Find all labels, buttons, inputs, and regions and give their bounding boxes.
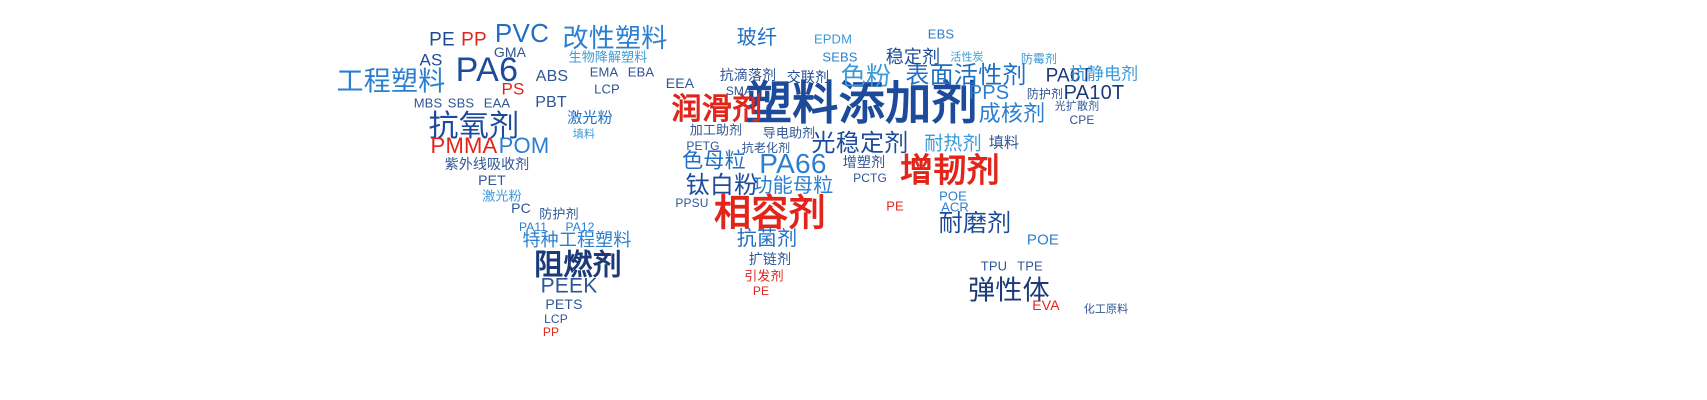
cloud-word[interactable]: PVC	[495, 20, 549, 46]
cloud-word[interactable]: PA12	[566, 221, 595, 233]
cloud-word[interactable]: 抗滴落剂	[720, 68, 777, 82]
cloud-word[interactable]: PPS	[969, 83, 1010, 103]
cloud-word[interactable]: 增塑剂	[843, 155, 885, 169]
cloud-word[interactable]: AS	[419, 52, 442, 69]
cloud-word[interactable]: TPE	[1017, 260, 1043, 273]
cloud-word[interactable]: 色粉	[841, 65, 892, 90]
cloud-word[interactable]: 活性炭	[950, 53, 983, 64]
cloud-word[interactable]: 增韧剂	[900, 154, 1000, 187]
cloud-word[interactable]: GMA	[494, 45, 526, 59]
cloud-word[interactable]: SMA	[726, 85, 752, 97]
cloud-word[interactable]: 交联剂	[787, 70, 829, 84]
cloud-word[interactable]: EMA	[590, 66, 619, 79]
cloud-word[interactable]: 防护剂	[1027, 88, 1063, 100]
cloud-word[interactable]: SEBS	[822, 51, 857, 64]
cloud-word[interactable]: PEEK	[541, 276, 598, 297]
cloud-word[interactable]: PMMA	[431, 135, 498, 157]
cloud-word[interactable]: PPSU	[675, 197, 708, 209]
cloud-word[interactable]: 生物降解塑料	[569, 51, 648, 64]
cloud-word[interactable]: MBS	[414, 97, 443, 110]
cloud-word[interactable]: PE	[886, 200, 904, 213]
cloud-word[interactable]: EPDM	[814, 33, 852, 46]
cloud-word[interactable]: 抗静电剂	[1070, 66, 1139, 83]
cloud-word[interactable]: 引发剂	[744, 270, 783, 283]
cloud-word[interactable]: 填料	[573, 130, 595, 141]
cloud-word[interactable]: 玻纤	[737, 28, 777, 48]
cloud-word[interactable]: 扩链剂	[749, 252, 791, 266]
cloud-word[interactable]: EAA	[484, 97, 510, 110]
cloud-word[interactable]: PETG	[686, 140, 719, 152]
cloud-word[interactable]: PA11	[519, 221, 547, 233]
cloud-word[interactable]: TPU	[981, 260, 1007, 273]
cloud-word[interactable]: 导电助剂	[763, 127, 816, 140]
cloud-word[interactable]: 紫外线吸收剂	[445, 157, 530, 171]
cloud-word[interactable]: PP	[543, 326, 559, 338]
cloud-word[interactable]: PBT	[535, 95, 567, 111]
cloud-word[interactable]: 耐磨剂	[939, 212, 1012, 236]
cloud-word[interactable]: PC	[511, 201, 531, 215]
cloud-word[interactable]: PCTG	[853, 172, 887, 184]
cloud-word[interactable]: LCP	[544, 313, 568, 325]
cloud-word[interactable]: 光扩散剂	[1055, 102, 1099, 113]
cloud-word[interactable]: 稳定剂	[886, 48, 941, 66]
cloud-word[interactable]: 成核剂	[979, 103, 1046, 125]
cloud-word[interactable]: EVA	[1032, 298, 1059, 312]
cloud-word[interactable]: EBA	[628, 66, 654, 79]
cloud-word[interactable]: POM	[499, 135, 550, 157]
cloud-word[interactable]: EBS	[928, 28, 954, 41]
cloud-word[interactable]: PE	[753, 285, 769, 297]
cloud-word[interactable]: 加工助剂	[690, 124, 743, 137]
cloud-word[interactable]: 润滑剂	[672, 95, 763, 125]
cloud-word[interactable]: ACR	[941, 201, 969, 214]
cloud-word[interactable]: 功能母粒	[753, 176, 834, 196]
cloud-word[interactable]: 化工原料	[1084, 305, 1128, 316]
cloud-word[interactable]: SBS	[448, 97, 474, 110]
cloud-word[interactable]: PP	[461, 31, 487, 50]
cloud-word[interactable]: 改性塑料	[562, 25, 667, 51]
cloud-word[interactable]: 耐热剂	[924, 135, 982, 154]
cloud-word[interactable]: LCP	[594, 83, 620, 96]
cloud-word[interactable]: EEA	[666, 76, 694, 90]
cloud-word[interactable]: PETS	[545, 297, 582, 311]
cloud-word[interactable]: 填料	[989, 136, 1019, 151]
cloud-word[interactable]: 相容剂	[714, 195, 826, 232]
cloud-word[interactable]: 抗老化剂	[742, 142, 790, 154]
cloud-word[interactable]: 钛白粉	[686, 174, 759, 198]
cloud-word[interactable]: PE	[429, 31, 455, 50]
cloud-word[interactable]: POE	[1027, 233, 1059, 248]
word-cloud-canvas: 塑料添加剂相容剂增韧剂润滑剂阻燃剂工程塑料抗氧剂PA6改性塑料表面活性剂光稳定剂…	[0, 0, 1707, 400]
cloud-word[interactable]: ABS	[536, 69, 569, 85]
cloud-word[interactable]: PET	[478, 173, 506, 187]
cloud-word[interactable]: 激光粉	[567, 111, 612, 126]
cloud-word[interactable]: 抗菌剂	[737, 229, 798, 249]
cloud-word[interactable]: CPE	[1069, 114, 1094, 126]
cloud-word[interactable]: 色母粒	[682, 151, 746, 172]
cloud-word[interactable]: 工程塑料	[336, 69, 445, 96]
cloud-word[interactable]: 防霉剂	[1021, 53, 1057, 65]
cloud-word[interactable]: 防护剂	[539, 208, 578, 221]
